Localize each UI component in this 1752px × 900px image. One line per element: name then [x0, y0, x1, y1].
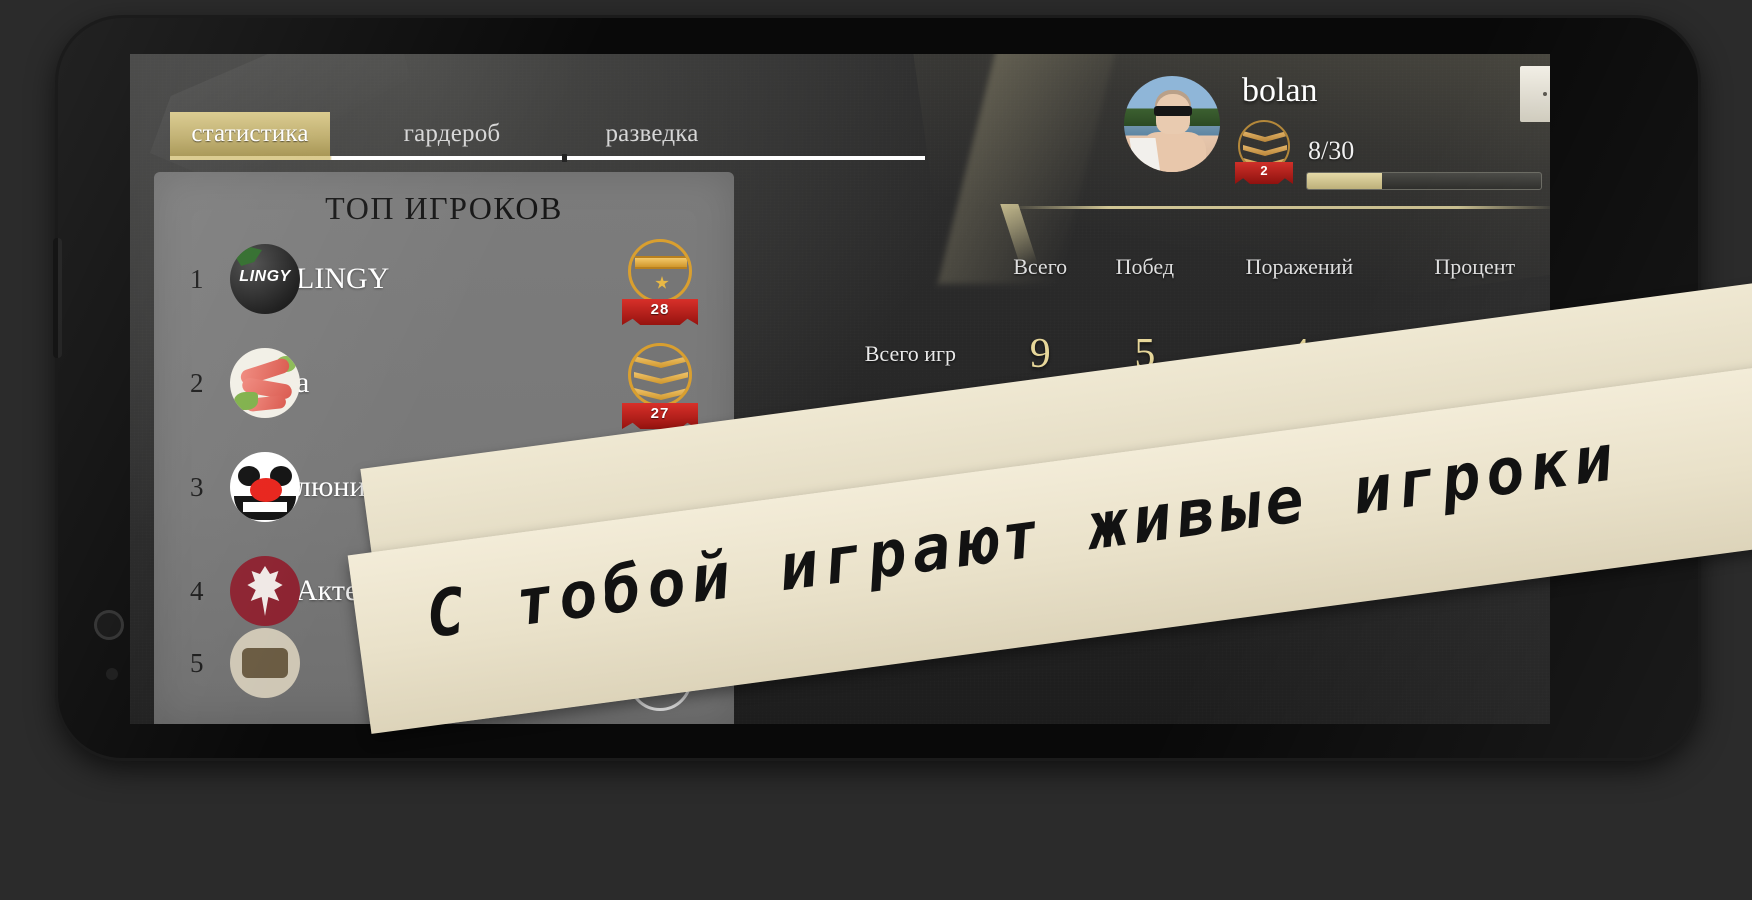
nose-icon [250, 478, 282, 502]
profile-username: bolan [1242, 72, 1318, 110]
chevron-icon [1243, 145, 1287, 156]
tab-underline [170, 156, 925, 160]
avatar-shape-icon [242, 648, 288, 678]
rank-number: 1 [190, 264, 230, 295]
troll-avatar [230, 452, 300, 522]
rank-number: 3 [190, 472, 230, 503]
camera-icon [94, 610, 124, 640]
chevron-icon [634, 372, 688, 384]
badge-circle-icon [628, 343, 692, 407]
chevron-icon [634, 388, 688, 400]
leaderboard-row[interactable]: 2 а 27 [154, 331, 734, 435]
sensor-dot-icon [106, 668, 118, 680]
gold-bar-icon [635, 256, 687, 269]
rank-ribbon: 2 [1235, 162, 1293, 184]
avatar-shirt-icon [1129, 138, 1160, 172]
stats-row-label: Всего игр [770, 314, 990, 394]
stats-header-wins: Побед [1090, 254, 1199, 314]
player-name: LINGY [296, 262, 389, 296]
meat-avatar [230, 348, 300, 418]
partial-avatar [230, 628, 300, 698]
leaf-icon [236, 246, 262, 266]
crest-icon [244, 566, 286, 616]
rank-number: 5 [190, 648, 230, 679]
stats-header-losses: Поражений [1199, 254, 1399, 314]
rank-number: 2 [190, 368, 230, 399]
sunglasses-icon [1154, 106, 1192, 116]
avatar-logo-text: LINGY [230, 268, 300, 286]
profile-header: bolan 2 8/30 [1020, 54, 1550, 204]
level-progress-label: 8/30 [1308, 136, 1354, 166]
leaderboard-title: ТОП ИГРОКОВ [154, 190, 734, 227]
door-icon [1520, 66, 1550, 122]
lingy-avatar: LINGY [230, 244, 300, 314]
volume-button[interactable] [53, 238, 62, 358]
rank-badge: 27 [622, 343, 698, 429]
garnish-icon [234, 392, 258, 410]
teeth-icon [240, 502, 290, 512]
stats-header-blank [770, 254, 990, 314]
xp-progress-bar [1306, 172, 1542, 190]
rank-number: 4 [190, 576, 230, 607]
badge-level-ribbon: 28 [622, 299, 698, 325]
chevron-icon [634, 356, 688, 368]
screenshot-root: статистика гардероб разведка ТОП ИГРОКОВ… [0, 0, 1752, 900]
chevron-icon [1243, 131, 1287, 142]
leaderboard-row[interactable]: 1 LINGY LINGY 28 [154, 227, 734, 331]
rank-badge: 28 [622, 239, 698, 325]
pandora-avatar [230, 556, 300, 626]
tab-bar: статистика гардероб разведка [170, 112, 910, 162]
stats-header-total: Всего [990, 254, 1090, 314]
stats-header-percent: Процент [1400, 254, 1550, 314]
star-icon [655, 276, 669, 290]
badge-circle-icon [628, 239, 692, 303]
xp-progress-fill [1307, 173, 1382, 189]
tab-razvedka[interactable]: разведка [562, 112, 742, 156]
stats-header-row: Всего Побед Поражений Процент [770, 254, 1550, 314]
tab-statistika[interactable]: статистика [170, 112, 330, 156]
profile-avatar[interactable] [1124, 76, 1220, 172]
profile-divider [1010, 206, 1550, 209]
tab-underline-gap [562, 154, 567, 162]
exit-door-icon[interactable] [1520, 66, 1550, 122]
tab-garderob[interactable]: гардероб [362, 112, 542, 156]
profile-rank-badge: 2 [1238, 120, 1296, 184]
